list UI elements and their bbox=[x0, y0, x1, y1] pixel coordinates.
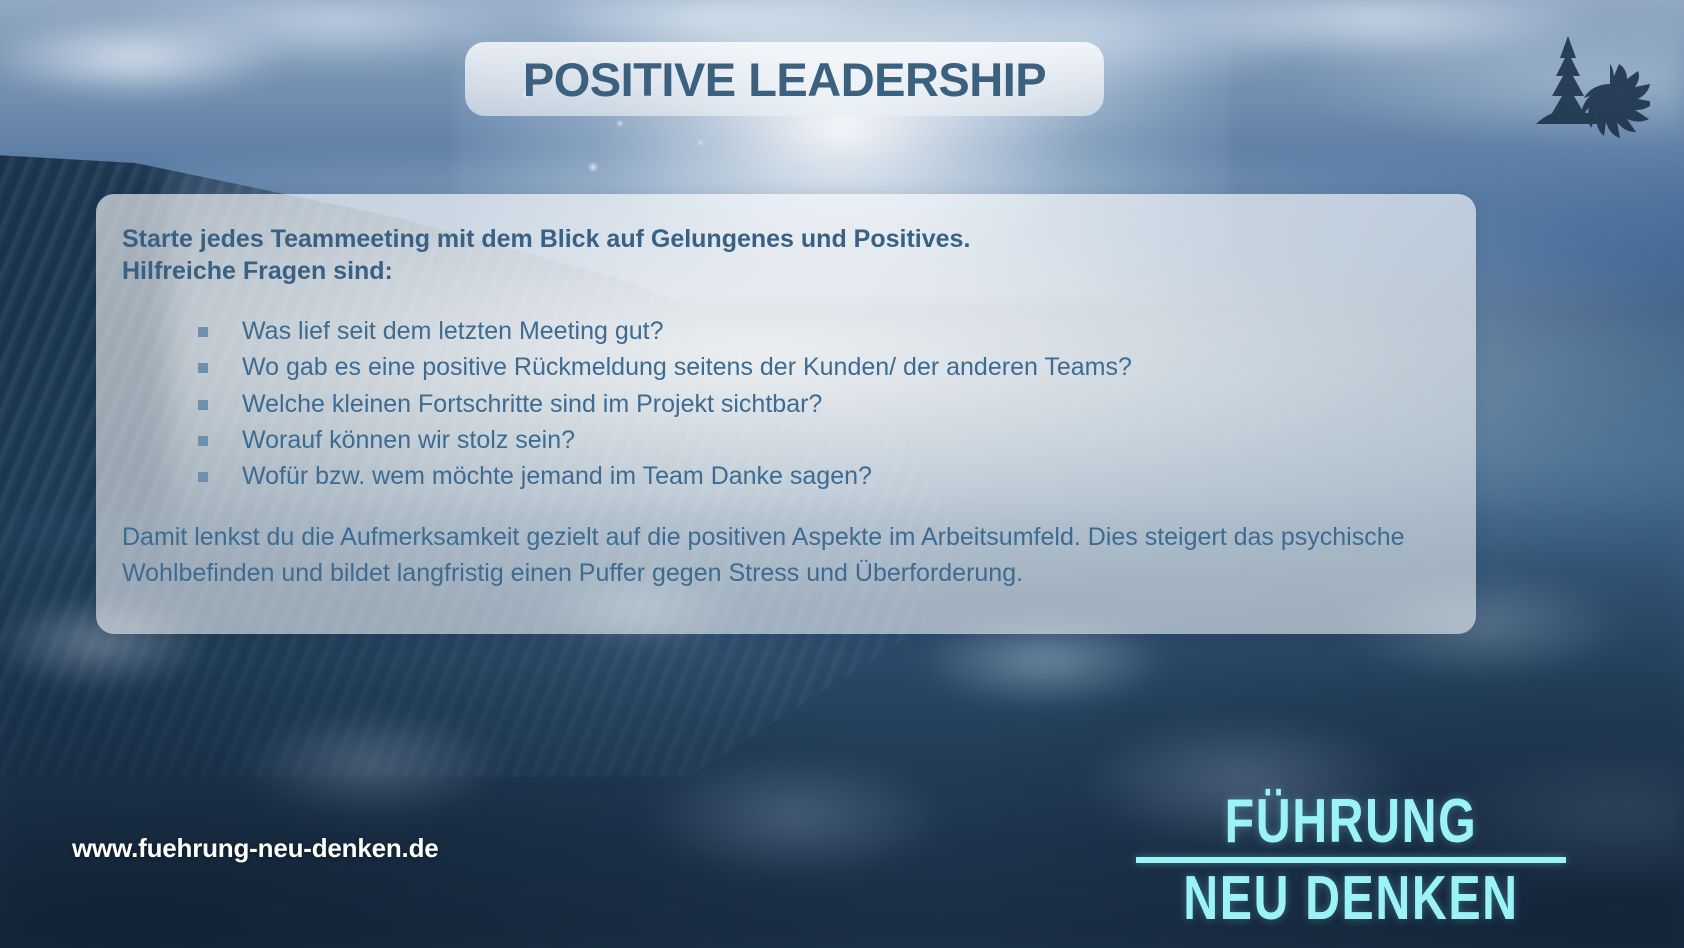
square-bullet-icon bbox=[198, 363, 208, 373]
lead-line-1: Starte jedes Teammeeting mit dem Blick a… bbox=[122, 224, 1450, 256]
square-bullet-icon bbox=[198, 472, 208, 482]
list-item: Welche kleinen Fortschritte sind im Proj… bbox=[198, 386, 1450, 422]
square-bullet-icon bbox=[198, 436, 208, 446]
content-card: Starte jedes Teammeeting mit dem Blick a… bbox=[96, 194, 1476, 634]
lead-paragraph: Starte jedes Teammeeting mit dem Blick a… bbox=[122, 224, 1450, 287]
list-item-label: Worauf können wir stolz sein? bbox=[242, 426, 575, 454]
list-item-label: Welche kleinen Fortschritte sind im Proj… bbox=[242, 390, 822, 418]
list-item: Wofür bzw. wem möchte jemand im Team Dan… bbox=[198, 458, 1450, 494]
logo-line-fuehrung: FÜHRUNG bbox=[1183, 791, 1518, 853]
logo-line-neu-denken: NEU DENKEN bbox=[1183, 868, 1518, 930]
list-item-label: Was lief seit dem letzten Meeting gut? bbox=[242, 317, 664, 345]
title-banner: POSITIVE LEADERSHIP bbox=[465, 42, 1104, 116]
list-item: Wo gab es eine positive Rückmeldung seit… bbox=[198, 349, 1450, 385]
square-bullet-icon bbox=[198, 400, 208, 410]
list-item: Was lief seit dem letzten Meeting gut? bbox=[198, 313, 1450, 349]
list-item: Worauf können wir stolz sein? bbox=[198, 422, 1450, 458]
closing-paragraph: Damit lenkst du die Aufmerksamkeit gezie… bbox=[122, 520, 1450, 591]
lead-line-2: Hilfreiche Fragen sind: bbox=[122, 256, 1450, 288]
logo-divider-rule bbox=[1136, 857, 1566, 863]
question-list: Was lief seit dem letzten Meeting gut? W… bbox=[122, 313, 1450, 494]
list-item-label: Wofür bzw. wem möchte jemand im Team Dan… bbox=[242, 462, 872, 490]
page-title: POSITIVE LEADERSHIP bbox=[523, 52, 1046, 107]
list-item-label: Wo gab es eine positive Rückmeldung seit… bbox=[242, 353, 1132, 381]
brand-logo: FÜHRUNG NEU DENKEN bbox=[1136, 791, 1566, 930]
website-url[interactable]: www.fuehrung-neu-denken.de bbox=[72, 833, 439, 864]
slide: POSITIVE LEADERSHIP Starte jedes Teammee… bbox=[0, 0, 1684, 948]
square-bullet-icon bbox=[198, 327, 208, 337]
